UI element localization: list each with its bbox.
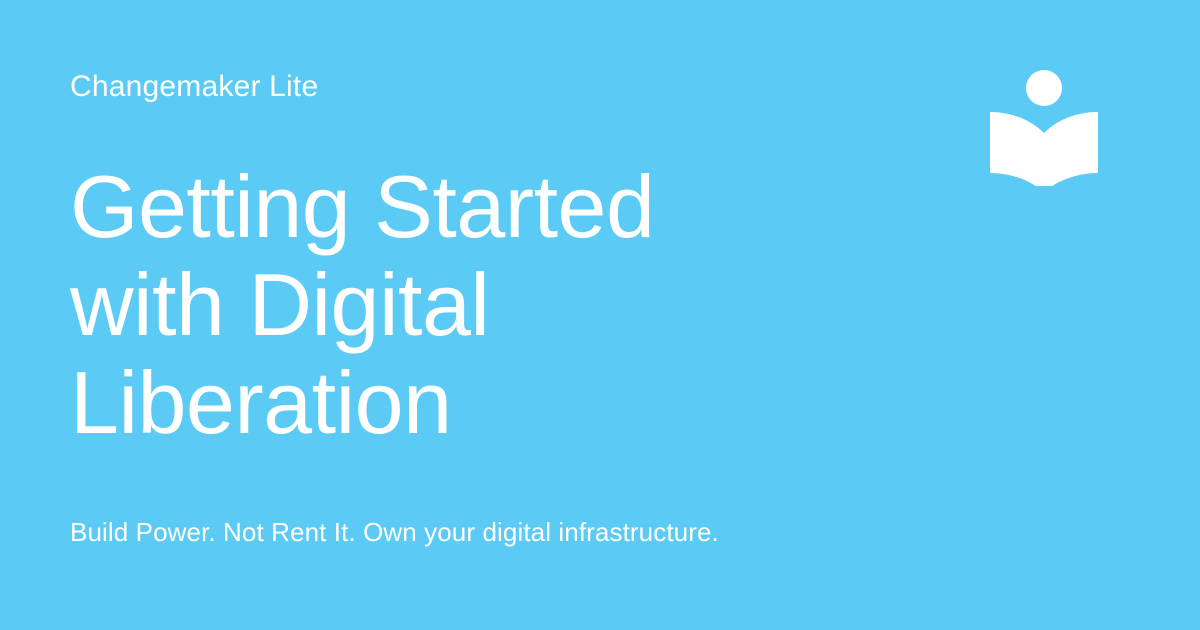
brand-name: Changemaker Lite (70, 68, 318, 106)
headline-line-3: Liberation (70, 354, 890, 452)
reader-head-shape (1026, 70, 1062, 106)
book-right-page-shape (1044, 112, 1098, 186)
book-left-page-shape (990, 112, 1044, 186)
headline-line-1: Getting Started (70, 158, 890, 256)
social-share-card: Changemaker Lite Getting Started with Di… (0, 0, 1200, 630)
open-book-reader-icon (986, 64, 1102, 186)
page-title: Getting Started with Digital Liberation (70, 158, 890, 452)
brand-logo (986, 64, 1102, 186)
tagline: Build Power. Not Rent It. Own your digit… (70, 515, 719, 549)
headline-line-2: with Digital (70, 256, 890, 354)
